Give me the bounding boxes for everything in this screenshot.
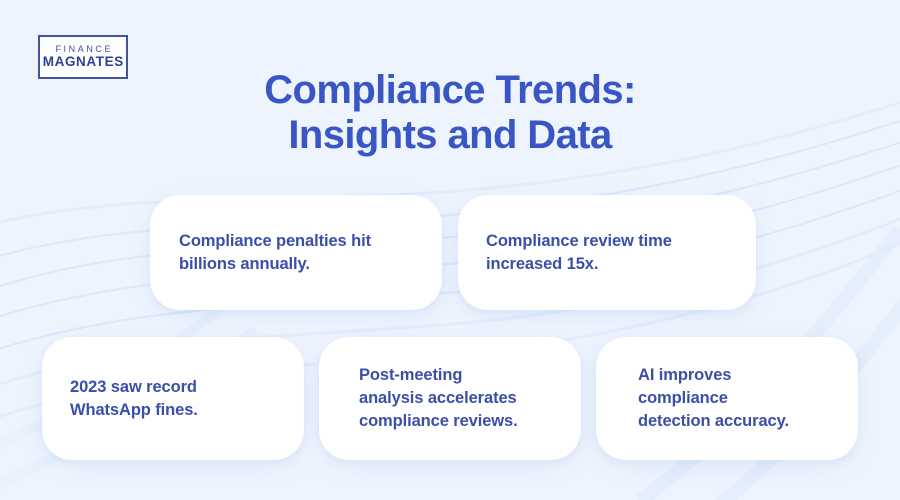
insight-card-post-meeting-analysis[interactable]: Post-meeting analysis accelerates compli… (319, 337, 581, 460)
insight-card-review-time[interactable]: Compliance review time increased 15x. (458, 195, 756, 310)
logo-text-finance: FINANCE (53, 45, 113, 54)
insight-card-line: Compliance review time (486, 230, 672, 253)
page-title-line-1: Compliance Trends: (0, 68, 900, 113)
insight-card-line: analysis accelerates (359, 387, 518, 410)
logo-text-magnates: MAGNATES (42, 55, 124, 69)
insight-card-text: 2023 saw record WhatsApp fines. (42, 376, 198, 422)
insight-card-line: Compliance penalties hit (179, 230, 371, 253)
insight-card-text: AI improves compliance detection accurac… (596, 364, 789, 433)
insight-card-compliance-penalties[interactable]: Compliance penalties hit billions annual… (150, 195, 442, 310)
insight-card-text: Compliance penalties hit billions annual… (150, 230, 371, 276)
insight-card-whatsapp-fines[interactable]: 2023 saw record WhatsApp fines. (42, 337, 304, 460)
insight-card-ai-detection[interactable]: AI improves compliance detection accurac… (596, 337, 858, 460)
insight-card-line: compliance reviews. (359, 410, 518, 433)
infographic-slide: FINANCE MAGNATES Compliance Trends: Insi… (0, 0, 900, 500)
insight-card-line: increased 15x. (486, 253, 672, 276)
insight-card-line: WhatsApp fines. (70, 399, 198, 422)
insight-card-line: AI improves (638, 364, 789, 387)
insight-card-line: detection accuracy. (638, 410, 789, 433)
insight-card-text: Compliance review time increased 15x. (458, 230, 672, 276)
page-title: Compliance Trends: Insights and Data (0, 68, 900, 158)
page-title-line-2: Insights and Data (0, 113, 900, 158)
insight-card-line: billions annually. (179, 253, 371, 276)
insight-card-line: Post-meeting (359, 364, 518, 387)
insight-card-line: 2023 saw record (70, 376, 198, 399)
insight-card-text: Post-meeting analysis accelerates compli… (319, 364, 518, 433)
insight-card-line: compliance (638, 387, 789, 410)
